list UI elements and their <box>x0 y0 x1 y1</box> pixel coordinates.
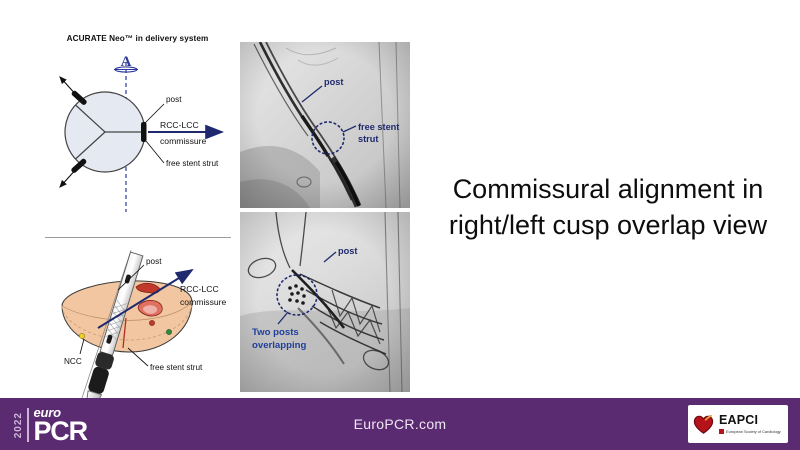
leader-lines <box>144 104 164 163</box>
slide-title-line2: right/left cusp overlap view <box>432 208 784 244</box>
diagram-column: ACURATE Neo™ in delivery system A <box>40 30 235 395</box>
diagram-divider <box>45 237 231 238</box>
overlap-marker-icon: A <box>114 54 138 72</box>
label-post: post <box>324 77 343 87</box>
acurate-neo-cross-section-diagram: A <box>40 44 235 234</box>
fluoroscopy-image-top: post free stent strut <box>240 42 410 208</box>
label-post: post <box>338 246 357 256</box>
label-post: post <box>166 95 182 104</box>
diagram-top-caption: ACURATE Neo™ in delivery system <box>40 34 235 43</box>
rcc-marker-dot <box>149 320 154 325</box>
eapci-subtitle-text: European Society of Cardiology <box>726 430 781 434</box>
label-commissure-line1: RCC-LCC <box>180 284 219 294</box>
label-free-stent-strut-line2: strut <box>358 134 378 144</box>
label-free-stent-strut: free stent strut <box>166 159 219 168</box>
lcc-marker-dot <box>166 329 171 334</box>
label-free-stent-strut-line1: free stent <box>358 122 399 132</box>
eapci-subtitle: European Society of Cardiology <box>719 429 781 434</box>
europcr-logo: 2022 euro PCR <box>14 404 110 446</box>
logo-divider <box>27 408 29 442</box>
label-commissure-line2: commissure <box>160 136 207 146</box>
logo-pcr-text: PCR <box>34 420 87 443</box>
footer-url: EuroPCR.com <box>0 398 800 450</box>
label-commissure-line2: commissure <box>180 297 227 307</box>
label-two-posts-line2: overlapping <box>252 340 307 351</box>
label-two-posts-line1: Two posts <box>252 327 299 338</box>
fluoroscopy-image-bottom: post Two posts overlapping <box>240 212 410 392</box>
label-free-stent-strut: free stent strut <box>150 363 203 372</box>
label-post: post <box>146 257 162 266</box>
footer-bar: EuroPCR.com 2022 euro PCR EAPCI European… <box>0 398 800 450</box>
slide-root: ACURATE Neo™ in delivery system A <box>0 0 800 450</box>
eapci-logo: EAPCI European Society of Cardiology <box>688 405 788 443</box>
label-ncc: NCC <box>64 357 82 366</box>
slide-title: Commissural alignment in right/left cusp… <box>432 172 784 243</box>
heart-icon <box>693 415 714 434</box>
label-commissure-line1: RCC-LCC <box>160 120 199 130</box>
esc-square-icon <box>719 429 724 434</box>
ncc-marker-dot <box>79 333 84 338</box>
eapci-name: EAPCI <box>719 414 781 427</box>
logo-year: 2022 <box>14 412 24 438</box>
slide-title-line1: Commissural alignment in <box>432 172 784 208</box>
